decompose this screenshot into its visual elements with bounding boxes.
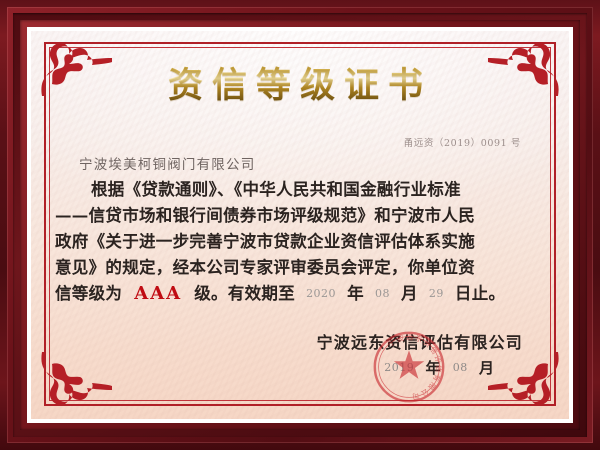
body-line: 根据《贷款通则》、《中华人民共和国金融行业标准	[55, 177, 551, 203]
certificate-title: 资信等级证书	[31, 57, 569, 108]
grade-line: 信等级为 AAA 级。有效期至 2020 年 08 月 29 日止。	[55, 281, 551, 307]
day-label: 日止。	[455, 284, 505, 303]
recipient-company-name: 宁波埃美柯铜阀门有限公司	[79, 153, 255, 173]
credit-grade-value: AAA	[128, 283, 188, 304]
certificate-paper: 资信等级证书 甬远资（2019）0091 号 宁波埃美柯铜阀门有限公司 根据《贷…	[31, 31, 569, 419]
certificate-number: 甬远资（2019）0091 号	[404, 135, 521, 149]
valid-until-year: 2020	[301, 287, 341, 300]
issue-date: 2019 年 08 月	[379, 357, 495, 378]
month-label: 月	[401, 284, 418, 303]
certificate-document: 资信等级证书 甬远资（2019）0091 号 宁波埃美柯铜阀门有限公司 根据《贷…	[0, 0, 600, 450]
certificate-content: 资信等级证书 甬远资（2019）0091 号 宁波埃美柯铜阀门有限公司 根据《贷…	[31, 31, 569, 419]
year-label: 年	[347, 284, 364, 303]
valid-until-month: 08	[370, 287, 395, 300]
valid-until-day: 29	[424, 287, 449, 300]
grade-middle-text: 级。有效期至	[194, 284, 295, 303]
issuing-organization: 宁波远东资信评估有限公司	[317, 329, 523, 353]
certificate-body: 根据《贷款通则》、《中华人民共和国金融行业标准 ——信贷市场和银行间债券市场评级…	[55, 177, 551, 307]
grade-prefix: 信等级为	[55, 284, 122, 303]
body-line: 政府《关于进一步完善宁波市贷款企业资信评估体系实施	[55, 229, 551, 255]
body-line: 意见》的规定，经本公司专家评审委员会评定，你单位资	[55, 255, 551, 281]
issue-month-label: 月	[479, 359, 495, 377]
issue-year-label: 年	[426, 359, 442, 377]
body-line: ——信贷市场和银行间债券市场评级规范》和宁波市人民	[55, 203, 551, 229]
issue-month: 08	[448, 361, 473, 374]
issue-year: 2019	[379, 361, 419, 374]
